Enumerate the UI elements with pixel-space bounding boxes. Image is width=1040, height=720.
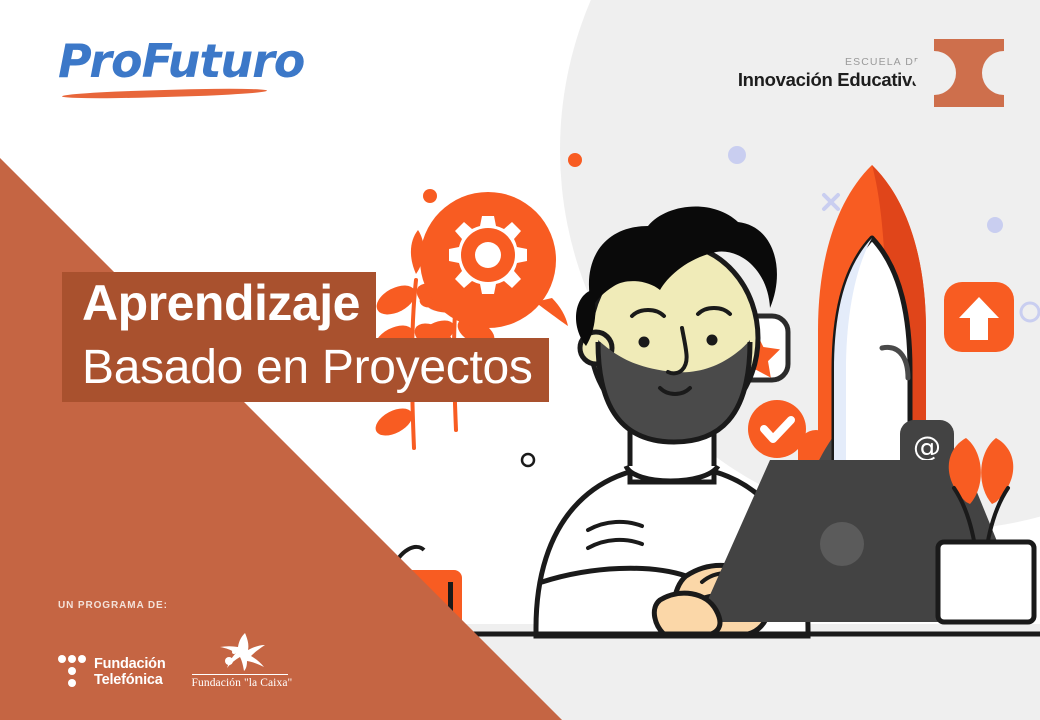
profuturo-wordmark: ProFuturo xyxy=(58,38,288,84)
profuturo-underline-stroke xyxy=(62,87,267,100)
la-caixa-divider xyxy=(192,674,288,675)
title-line-2: Basado en Proyectos xyxy=(62,338,549,402)
escuela-name: Innovación Educativa xyxy=(738,71,922,90)
svg-text:@: @ xyxy=(913,430,941,463)
left-hand xyxy=(654,593,720,636)
la-caixa-caption: Fundación "la Caixa" xyxy=(192,677,288,689)
telefonica-wordmark: Fundación Telefónica xyxy=(94,656,166,688)
escuela-logo-text: ESCUELA DE Innovación Educativa xyxy=(738,57,922,90)
profuturo-logo[interactable]: ProFuturo xyxy=(58,38,288,110)
telefonica-line-2: Telefónica xyxy=(94,672,166,688)
escuela-innovacion-educativa-logo[interactable]: ESCUELA DE Innovación Educativa xyxy=(738,40,1004,106)
telefonica-line-1: Fundación xyxy=(94,656,166,672)
upload-arrow-badge-icon xyxy=(944,282,1014,352)
slide-canvas: @ xyxy=(0,0,1040,720)
sponsors-label: UN PROGRAMA DE: xyxy=(58,600,288,611)
sponsor-logo-row: Fundación Telefónica Fundación "la Caixa… xyxy=(58,631,288,689)
fundacion-la-caixa-logo[interactable]: Fundación "la Caixa" xyxy=(192,631,288,689)
escuela-x-mark-icon xyxy=(934,39,1004,107)
check-badge-icon xyxy=(748,400,806,458)
title-line-1: Aprendizaje xyxy=(62,272,376,338)
sponsors-block: UN PROGRAMA DE: Fundación Telefónica xyxy=(58,600,288,689)
fundacion-telefonica-logo[interactable]: Fundación Telefónica xyxy=(58,655,166,689)
escuela-kicker: ESCUELA DE xyxy=(738,57,922,68)
telefonica-dots-icon xyxy=(58,655,86,689)
la-caixa-star-icon xyxy=(192,631,288,671)
page-title: Aprendizaje Basado en Proyectos xyxy=(62,272,549,402)
